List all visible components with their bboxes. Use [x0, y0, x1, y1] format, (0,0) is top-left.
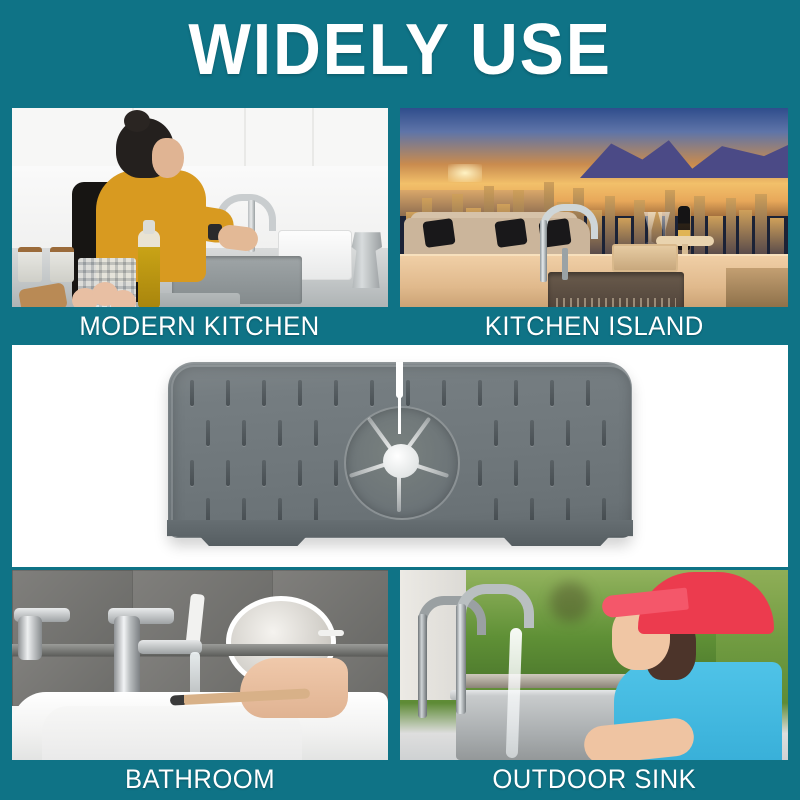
mat-slit-mouth — [396, 362, 403, 398]
mirror-arm — [318, 630, 344, 636]
hand — [240, 658, 348, 718]
mat-groove — [478, 380, 482, 406]
faucet-hole-center — [383, 444, 419, 478]
mat-groove — [602, 420, 606, 446]
mat-groove — [442, 380, 446, 406]
title-bar: WIDELY USE — [0, 0, 800, 100]
mat-groove — [550, 460, 554, 486]
background-foliage — [550, 582, 590, 622]
egg-bowl — [72, 280, 138, 308]
mat-groove — [566, 420, 570, 446]
island-cabinet — [726, 268, 788, 308]
mat-groove — [190, 460, 194, 486]
caption-outdoor-sink: OUTDOOR SINK — [400, 760, 788, 798]
mat-groove — [514, 380, 518, 406]
cabinet-seam — [312, 108, 314, 166]
mat-groove — [262, 380, 266, 406]
cabinet-seam — [244, 108, 246, 166]
page-title: WIDELY USE — [188, 14, 611, 86]
faucet-neck — [540, 220, 547, 282]
mat-groove — [514, 460, 518, 486]
caption-label: KITCHEN ISLAND — [484, 311, 703, 342]
caption-label: BATHROOM — [125, 764, 275, 795]
panel-bathroom[interactable]: BATHROOM — [12, 570, 388, 800]
caption-kitchen-island: KITCHEN ISLAND — [400, 307, 788, 345]
faucet-arc — [456, 584, 534, 628]
mat-groove — [206, 420, 210, 446]
mat-groove — [314, 420, 318, 446]
oil-bottle-cap — [143, 220, 155, 234]
poster-root: WIDELY USE — [0, 0, 800, 800]
mat-groove — [550, 380, 554, 406]
faucet-arc — [540, 204, 598, 239]
throw-pillow — [422, 218, 455, 248]
throw-pillow — [494, 218, 527, 248]
panel-modern-kitchen[interactable]: MODERN KITCHEN — [12, 108, 388, 345]
second-faucet-body — [18, 616, 42, 660]
caption-label: OUTDOOR SINK — [492, 764, 696, 795]
caption-bathroom: BATHROOM — [12, 760, 388, 798]
photo-bathroom — [12, 570, 388, 760]
mat-groove — [494, 420, 498, 446]
woman-face — [152, 138, 184, 178]
mat-groove — [190, 380, 194, 406]
mat-groove — [262, 460, 266, 486]
mat-groove — [226, 460, 230, 486]
faucet-neck — [456, 604, 466, 714]
mat-groove — [370, 380, 374, 406]
hair-bun — [124, 110, 150, 132]
caption-modern-kitchen: MODERN KITCHEN — [12, 307, 388, 345]
second-faucet-neck — [418, 614, 427, 718]
photo-kitchen-island — [400, 108, 788, 308]
egg — [110, 290, 136, 308]
mat-groove — [478, 460, 482, 486]
mat-groove — [298, 460, 302, 486]
kitchen-upper-cabinets — [12, 108, 388, 168]
olive-oil-bottle — [138, 230, 160, 308]
mat-groove — [586, 380, 590, 406]
caption-label: MODERN KITCHEN — [80, 311, 320, 342]
mat-groove — [226, 380, 230, 406]
mat-drain-tabs — [167, 520, 633, 546]
mat-groove — [242, 420, 246, 446]
mat-groove — [406, 380, 410, 406]
serving-tray — [612, 244, 678, 272]
spice-jar — [50, 247, 74, 282]
mat-groove — [586, 460, 590, 486]
mat-groove — [530, 420, 534, 446]
photo-outdoor-sink — [400, 570, 788, 760]
mat-groove — [278, 420, 282, 446]
mat-groove — [334, 380, 338, 406]
soap-dispenser — [562, 248, 568, 280]
panel-kitchen-island[interactable]: KITCHEN ISLAND — [400, 108, 788, 345]
spice-jar — [18, 247, 42, 282]
photo-modern-kitchen — [12, 108, 388, 308]
mat-groove — [298, 380, 302, 406]
panel-outdoor-sink[interactable]: OUTDOOR SINK — [400, 570, 788, 800]
mat-groove — [334, 460, 338, 486]
product-image — [168, 362, 632, 557]
